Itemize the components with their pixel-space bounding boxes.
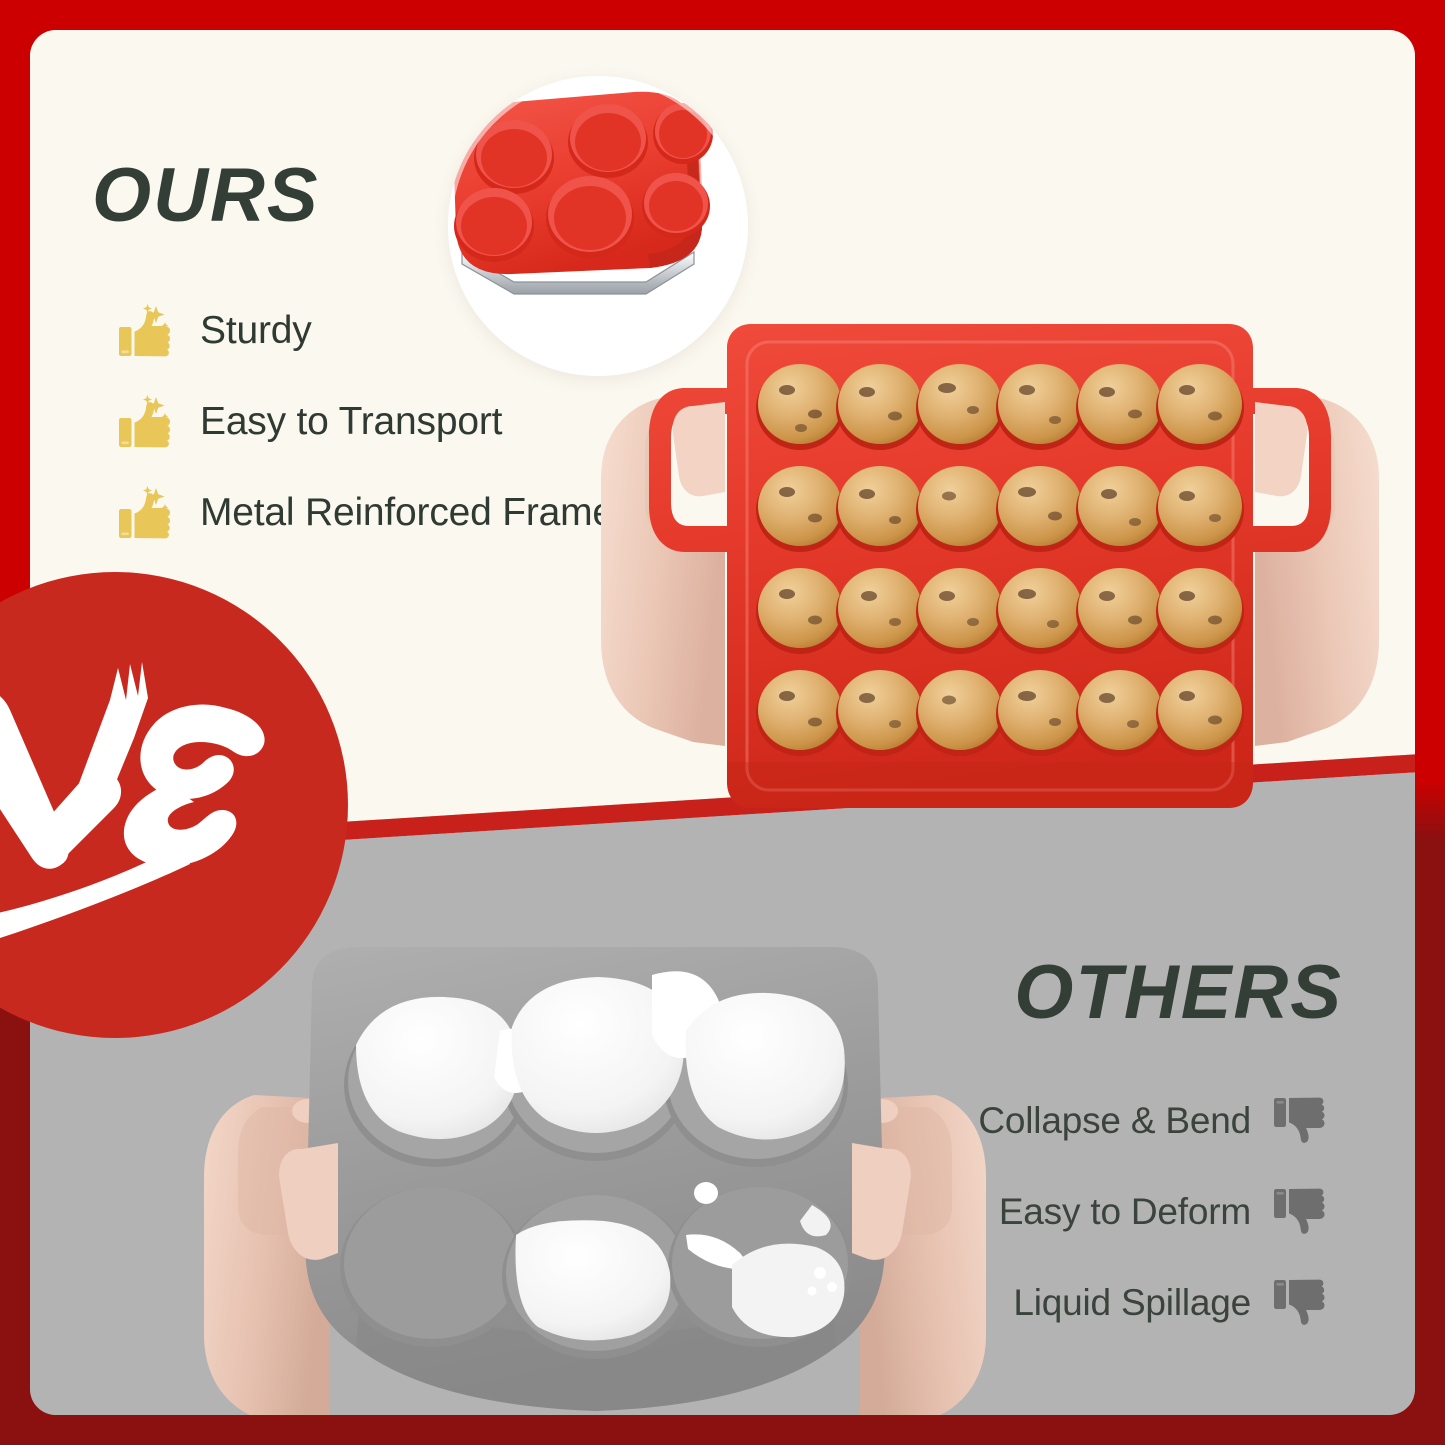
thumbs-down-icon bbox=[1273, 1183, 1329, 1241]
vs-brushstroke-icon bbox=[0, 572, 348, 1038]
ours-product-photo bbox=[575, 310, 1405, 850]
feature-label: Liquid Spillage bbox=[1013, 1282, 1251, 1324]
outer-frame: OURS Sturdy bbox=[0, 0, 1445, 1445]
feature-row-easy-to-deform: Easy to Deform bbox=[978, 1183, 1329, 1241]
ours-heading: OURS bbox=[92, 158, 320, 234]
others-feature-list: Collapse & Bend Easy to Deform bbox=[978, 1092, 1329, 1365]
others-heading: OTHERS bbox=[1014, 955, 1343, 1031]
feature-row-easy-to-transport: Easy to Transport bbox=[118, 393, 614, 451]
feature-label: Sturdy bbox=[200, 309, 312, 353]
thumbs-up-sparkle-icon bbox=[118, 302, 174, 360]
feature-row-liquid-spillage: Liquid Spillage bbox=[978, 1274, 1329, 1332]
product-closeup-inset bbox=[448, 76, 748, 376]
feature-label: Easy to Deform bbox=[999, 1191, 1251, 1233]
feature-label: Collapse & Bend bbox=[978, 1100, 1251, 1142]
feature-label: Metal Reinforced Frame bbox=[200, 491, 614, 535]
thumbs-up-sparkle-icon bbox=[118, 484, 174, 542]
feature-row-collapse-and-bend: Collapse & Bend bbox=[978, 1092, 1329, 1150]
vs-badge bbox=[0, 572, 348, 1038]
product-closeup-metal-frame-detail-icon bbox=[448, 76, 748, 376]
thumbs-down-icon bbox=[1273, 1274, 1329, 1332]
feature-row-metal-reinforced-frame: Metal Reinforced Frame bbox=[118, 484, 614, 542]
thumbs-up-sparkle-icon bbox=[118, 393, 174, 451]
feature-label: Easy to Transport bbox=[200, 400, 502, 444]
thumbs-down-icon bbox=[1273, 1092, 1329, 1150]
red-silicone-muffin-pan-with-muffins-held-by-hands-icon bbox=[575, 310, 1405, 850]
